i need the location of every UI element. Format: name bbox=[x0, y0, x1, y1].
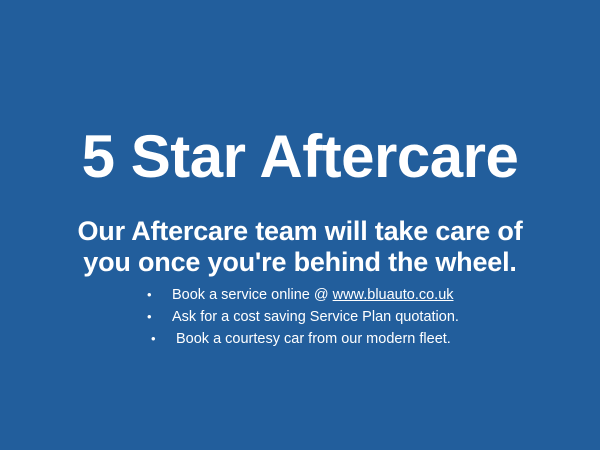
list-item-text: Ask for a cost saving Service Plan quota… bbox=[172, 306, 459, 328]
website-link[interactable]: www.bluauto.co.uk bbox=[333, 287, 454, 303]
subheading-line-1: Our Aftercare team will take care of bbox=[0, 216, 600, 247]
benefits-list: • Book a service online @ www.bluauto.co… bbox=[0, 284, 600, 350]
list-item: • Book a service online @ www.bluauto.co… bbox=[0, 284, 600, 306]
bullet-point-icon: • bbox=[147, 284, 172, 306]
list-item-text-prefix: Book a service online @ bbox=[172, 287, 333, 303]
aftercare-slide: 5 Star Aftercare Our Aftercare team will… bbox=[0, 0, 600, 450]
list-item-text: Book a courtesy car from our modern flee… bbox=[176, 328, 451, 350]
bullet-point-icon: • bbox=[147, 306, 172, 328]
list-item: • Ask for a cost saving Service Plan quo… bbox=[0, 306, 600, 328]
bullet-point-icon: • bbox=[151, 328, 176, 350]
subheading: Our Aftercare team will take care of you… bbox=[0, 216, 600, 279]
page-title: 5 Star Aftercare bbox=[0, 126, 600, 188]
subheading-line-2: you once you're behind the wheel. bbox=[0, 247, 600, 278]
list-item: • Book a courtesy car from our modern fl… bbox=[0, 328, 600, 350]
list-item-text: Book a service online @ www.bluauto.co.u… bbox=[172, 284, 454, 306]
